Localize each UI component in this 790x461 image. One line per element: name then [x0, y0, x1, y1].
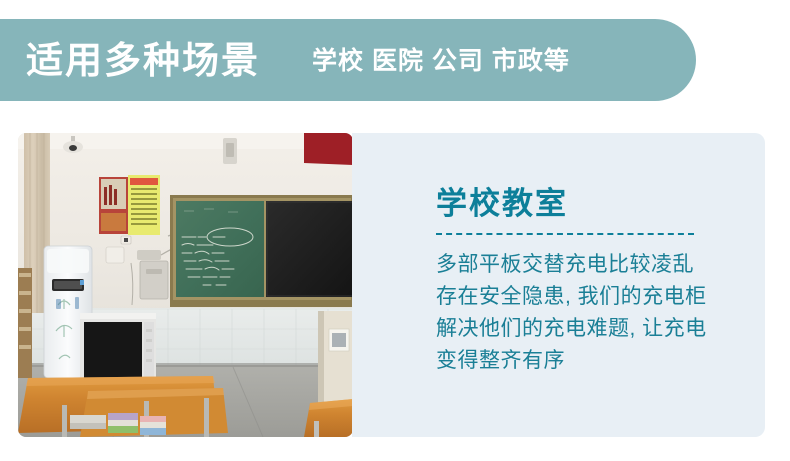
promo-page: 适用多种场景 学校 医院 公司 市政等 — [0, 0, 790, 461]
panel-title: 学校教室 — [436, 188, 765, 219]
body-line: 存在安全隐患, 我们的充电柜 — [436, 281, 741, 313]
banner-subtitle: 学校 医院 公司 市政等 — [312, 49, 570, 74]
body-line: 多部平板交替充电比较凌乱 — [436, 249, 741, 281]
panel-body: 多部平板交替充电比较凌乱 存在安全隐患, 我们的充电柜 解决他们的充电难题, 让… — [436, 249, 741, 377]
text-panel: 学校教室 多部平板交替充电比较凌乱 存在安全隐患, 我们的充电柜 解决他们的充电… — [352, 133, 765, 437]
body-line: 变得整齐有序 — [436, 345, 741, 377]
classroom-photo-illustration — [18, 133, 353, 437]
content-row: 学校教室 多部平板交替充电比较凌乱 存在安全隐患, 我们的充电柜 解决他们的充电… — [18, 133, 765, 437]
body-line: 解决他们的充电难题, 让充电 — [436, 313, 741, 345]
header-banner: 适用多种场景 学校 医院 公司 市政等 — [0, 19, 696, 101]
banner-title: 适用多种场景 — [26, 42, 260, 79]
title-divider — [436, 233, 694, 235]
classroom-photo — [18, 133, 353, 437]
